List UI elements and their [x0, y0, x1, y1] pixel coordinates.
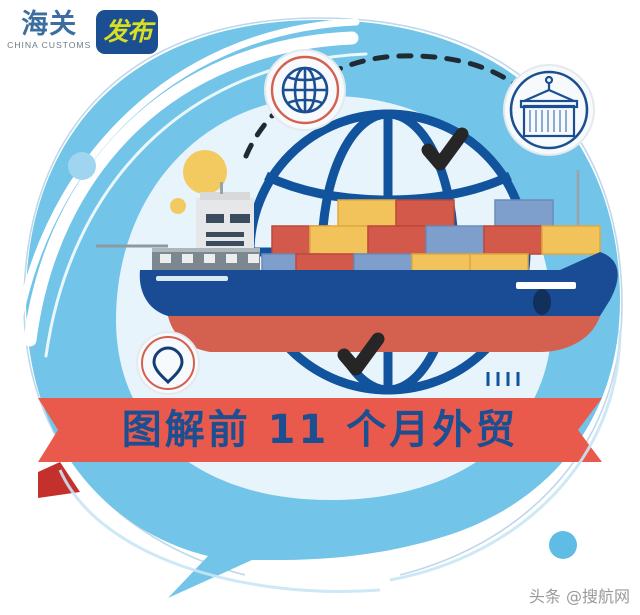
- stern-stripe: [156, 276, 228, 281]
- container: [495, 200, 553, 226]
- location-pin-icon-badge: [137, 332, 199, 394]
- watermark: 头条 @搜航网: [529, 587, 630, 607]
- bow-stripe: [516, 282, 576, 289]
- container: [396, 200, 454, 226]
- container: [310, 226, 368, 254]
- infographic-poster: 海关 CHINA CUSTOMS 发布 图解前 11 个月外贸 头条 @搜航网: [0, 0, 640, 615]
- logo-latin-text: CHINA CUSTOMS: [7, 40, 91, 51]
- china-customs-logo[interactable]: 海关 CHINA CUSTOMS 发布: [8, 8, 158, 54]
- small-yellow-dot: [170, 198, 186, 214]
- shipping-container-icon-badge: [504, 65, 594, 155]
- container: [338, 200, 396, 226]
- blue-dot-right: [549, 531, 577, 559]
- watermark-text: 头条 @搜航网: [529, 587, 630, 607]
- ship-deck-strip: [152, 248, 260, 270]
- blue-dot-left: [68, 152, 96, 180]
- container: [484, 226, 542, 254]
- container: [368, 226, 426, 254]
- poster-illustration: [0, 0, 640, 615]
- logo-text-block: 海关 CHINA CUSTOMS: [8, 8, 90, 51]
- anchor-port: [533, 289, 551, 315]
- container: [426, 226, 484, 254]
- logo-badge-text: 发布: [103, 19, 151, 45]
- globe-icon-badge: [265, 50, 345, 130]
- globe-icon: [283, 68, 327, 112]
- ship-bridge: [196, 182, 254, 254]
- logo-chinese-text: 海关: [21, 10, 77, 40]
- container: [542, 226, 600, 254]
- ship-hull-bottom: [168, 316, 600, 352]
- logo-badge[interactable]: 发布: [96, 10, 158, 54]
- ribbon-band: [38, 398, 602, 462]
